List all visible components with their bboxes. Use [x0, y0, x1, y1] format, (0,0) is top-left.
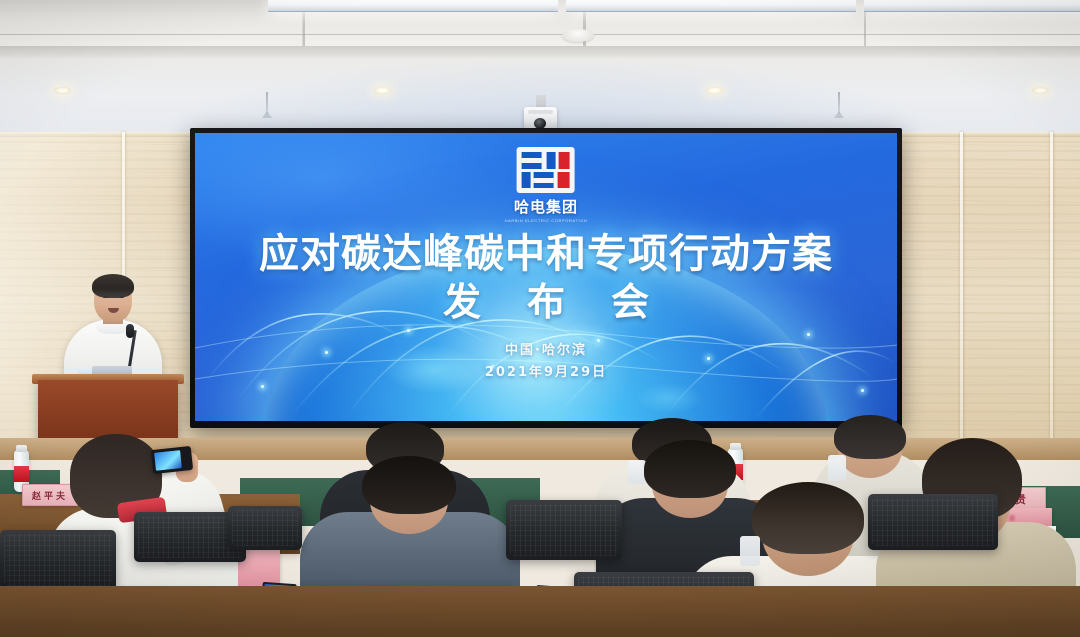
ceiling-soffit	[0, 46, 1080, 58]
led-screen: 哈电集团 HARBIN ELECTRIC CORPORATION 应对碳达峰碳中…	[195, 133, 897, 421]
he-logo-mark-icon	[517, 147, 575, 193]
bottle-cap	[16, 445, 27, 452]
downlight-icon	[706, 87, 723, 94]
speaker-hair	[92, 274, 134, 298]
ceiling-hanger	[266, 92, 268, 114]
bottle-label	[14, 466, 29, 482]
screen-date-label: 2021年9月29日	[195, 361, 897, 380]
glow-dot	[261, 385, 264, 388]
wall-panel-seam	[1050, 132, 1053, 442]
bottle-cap	[730, 443, 741, 450]
phone-screen	[154, 450, 182, 471]
ceiling-light-panel	[268, 0, 558, 12]
screen-title-line2: 发布会	[195, 271, 897, 326]
speaker-eye	[119, 296, 124, 298]
downlight-icon	[54, 87, 71, 94]
chair[interactable]	[228, 506, 302, 550]
ceiling-speaker-icon	[562, 29, 594, 42]
face-mask	[828, 455, 846, 481]
foreground-table	[0, 586, 1080, 637]
ceiling-light-panel	[566, 0, 856, 12]
downlight-icon	[1032, 87, 1049, 94]
hair	[834, 415, 906, 459]
chair[interactable]	[868, 494, 998, 550]
ceiling-hanger	[838, 92, 840, 114]
microphone-icon	[126, 324, 134, 338]
smartphone[interactable]	[151, 446, 193, 474]
wall-panel-seam	[960, 132, 963, 442]
conference-room-scene: 哈电集团 HARBIN ELECTRIC CORPORATION 应对碳达峰碳中…	[0, 0, 1080, 637]
downlight-icon	[374, 87, 391, 94]
logo-company-name-cn: 哈电集团	[505, 196, 588, 217]
chair[interactable]	[506, 500, 622, 560]
speaker-eye	[103, 296, 108, 298]
name-card-text: 赵平夫	[32, 489, 68, 502]
face-mask	[740, 536, 760, 566]
podium: 哈尔滨电气集团有限公司 HARBIN ELECTRIC CORPORATION	[38, 380, 178, 442]
ceiling-light-panel	[864, 0, 1080, 12]
hair	[362, 456, 456, 514]
led-screen-bezel: 哈电集团 HARBIN ELECTRIC CORPORATION 应对碳达峰碳中…	[190, 128, 902, 428]
harbin-electric-logo: 哈电集团 HARBIN ELECTRIC CORPORATION	[505, 147, 588, 223]
glow-dot	[861, 389, 864, 392]
hair	[644, 440, 736, 498]
glow-dot	[807, 333, 810, 336]
glow-dot	[407, 329, 410, 332]
screen-place-label: 中国·哈尔滨	[195, 339, 897, 358]
chair[interactable]	[0, 530, 116, 590]
hair	[752, 482, 864, 554]
